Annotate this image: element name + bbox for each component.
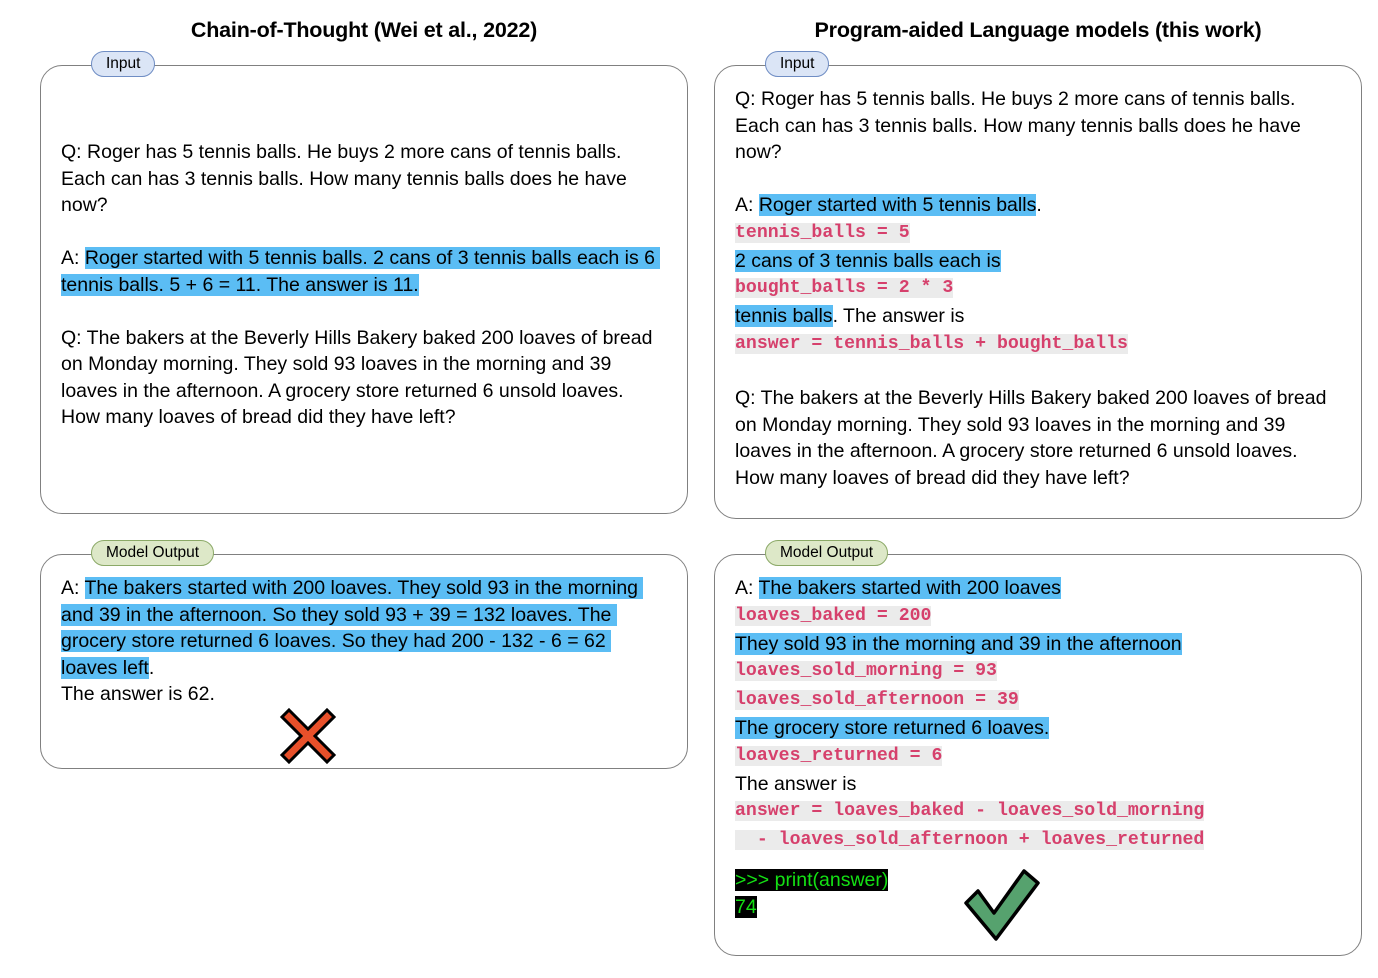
left-output-answer: A: The bakers started with 200 loaves. T… [61,575,667,681]
left-input-top-gap-2 [61,113,667,140]
figure-root: Chain-of-Thought (Wei et al., 2022) Inpu… [0,0,1378,978]
x-mark-icon [276,704,340,768]
left-input-question-2: Q: The bakers at the Beverly Hills Baker… [61,325,667,431]
right-input-answer-line-1: A: Roger started with 5 tennis balls. [735,192,1341,219]
left-column-title: Chain-of-Thought (Wei et al., 2022) [40,0,688,49]
left-output-panel: Model Output A: The bakers started with … [40,554,688,769]
right-a1-seg1-tail: . [1036,194,1041,216]
right-input-answer-line-2: 2 cans of 3 tennis balls each is [735,248,1341,275]
right-output-code-1: loaves_baked = 200 [735,602,1341,631]
right-output-body: A: The bakers started with 200 loaves lo… [715,555,1361,939]
right-q1-label: Q: [735,88,761,110]
right-input-gap-1 [735,166,1341,193]
left-input-gap-2 [61,298,667,325]
right-output-gap [735,855,1341,867]
left-input-answer-1: A: Roger started with 5 tennis balls. 2 … [61,245,667,298]
right-output-line-1: A: The bakers started with 200 loaves [735,575,1341,602]
left-output-final-line: The answer is 62. [61,681,667,708]
left-q2-text: The bakers at the Beverly Hills Bakery b… [61,327,658,429]
right-input-question-2: Q: The bakers at the Beverly Hills Baker… [735,385,1341,491]
right-q2-label: Q: [735,387,761,409]
right-q2-text: The bakers at the Beverly Hills Bakery b… [735,387,1332,489]
right-q1-text: Roger has 5 tennis balls. He buys 2 more… [735,88,1306,163]
right-a1-seg3: tennis balls [735,305,833,327]
right-input-body: Q: Roger has 5 tennis balls. He buys 2 m… [715,66,1361,509]
right-output-line-2: They sold 93 in the morning and 39 in th… [735,631,1341,658]
left-a1-highlight: Roger started with 5 tennis balls. 2 can… [61,247,660,296]
right-output-legend: Model Output [765,540,888,566]
left-q1-text: Roger has 5 tennis balls. He buys 2 more… [61,141,632,216]
right-input-code-3: answer = tennis_balls + bought_balls [735,330,1341,359]
right-output-code-2: loaves_sold_morning = 93 [735,657,1341,686]
terminal-command: print(answer) [775,869,889,891]
right-a1-label: A: [735,194,759,216]
left-input-legend: Input [91,51,155,77]
left-q2-label: Q: [61,327,87,349]
right-output-code-5b: - loaves_sold_afternoon + loaves_returne… [735,826,1341,855]
right-out-seg3: The grocery store returned 6 loaves. [735,717,1049,739]
right-input-panel: Input Q: Roger has 5 tennis balls. He bu… [714,65,1362,519]
right-out-a-label: A: [735,577,759,599]
right-out-seg2: They sold 93 in the morning and 39 in th… [735,633,1182,655]
right-input-gap-2 [735,359,1341,386]
right-input-answer-line-3: tennis balls. The answer is [735,303,1341,330]
column-pal: Program-aided Language models (this work… [714,0,1362,956]
right-output-code-4: loaves_returned = 6 [735,742,1341,771]
left-input-panel: Input Q: Roger has 5 tennis balls. He bu… [40,65,688,514]
left-a1-label: A: [61,247,85,269]
left-input-question-1: Q: Roger has 5 tennis balls. He buys 2 m… [61,139,667,219]
column-chain-of-thought: Chain-of-Thought (Wei et al., 2022) Inpu… [40,0,688,769]
left-input-top-gap [61,86,667,113]
right-output-plain-line: The answer is [735,771,1341,798]
right-a1-seg1: Roger started with 5 tennis balls [759,194,1036,216]
terminal-result: 74 [735,896,757,918]
terminal-prompt: >>> [735,869,775,891]
left-out-a-label: A: [61,577,85,599]
right-a1-seg3-tail: . The answer is [833,305,965,327]
right-a1-seg2: 2 cans of 3 tennis balls each is [735,250,1001,272]
right-column-title: Program-aided Language models (this work… [714,0,1362,49]
right-out-seg1: The bakers started with 200 loaves [759,577,1061,599]
left-q1-label: Q: [61,141,87,163]
right-output-code-5a: answer = loaves_baked - loaves_sold_morn… [735,797,1341,826]
left-output-legend: Model Output [91,540,214,566]
left-input-body: Q: Roger has 5 tennis balls. He buys 2 m… [41,66,687,449]
right-input-code-2: bought_balls = 2 * 3 [735,274,1341,303]
right-output-line-3: The grocery store returned 6 loaves. [735,715,1341,742]
left-input-gap-1 [61,219,667,246]
right-output-code-3: loaves_sold_afternoon = 39 [735,686,1341,715]
right-input-code-1: tennis_balls = 5 [735,219,1341,248]
check-mark-icon [960,869,1044,945]
right-output-panel: Model Output A: The bakers started with … [714,554,1362,956]
right-input-legend: Input [765,51,829,77]
right-input-question-1: Q: Roger has 5 tennis balls. He buys 2 m… [735,86,1341,166]
left-output-body: A: The bakers started with 200 loaves. T… [41,555,687,726]
left-out-tail: . [149,657,154,679]
